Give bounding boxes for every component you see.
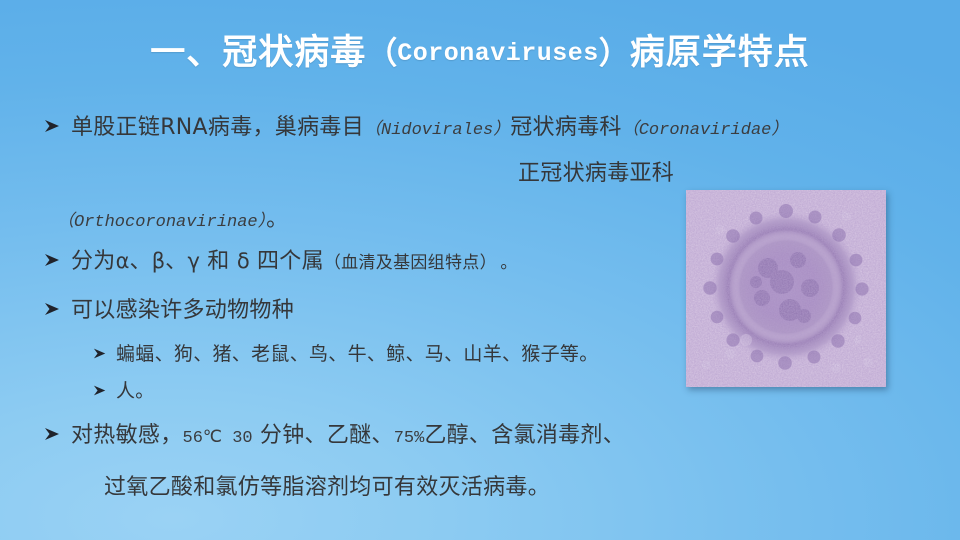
arrow-bullet-icon xyxy=(93,347,107,360)
bullet-1-line-1: 单股正链RNA病毒，巢病毒目（Nidovirales）冠状病毒科（Coronav… xyxy=(44,117,788,139)
bullet-4-text-b: 分钟、乙醚、 xyxy=(253,423,394,448)
bullet-2-text-b: 和 xyxy=(200,249,237,274)
bullet-2-line: 分为α、β、γ 和 δ 四个属（血清及基因组特点）。 xyxy=(44,251,518,273)
slide-canvas: 一、冠状病毒（Coronaviruses）病原学特点 单股正链RNA病毒，巢病毒… xyxy=(0,0,960,540)
bullet-4-gap xyxy=(222,429,232,448)
bullet-3-sub-2: 人。 xyxy=(93,382,155,401)
bullet-2-note: （血清及基因组特点） xyxy=(324,253,489,273)
bullet-3-line: 可以感染许多动物物种 xyxy=(44,300,294,322)
bullet-2-sep-1: 、 xyxy=(129,249,151,274)
bullet-2-greek-beta: β xyxy=(152,249,165,273)
bullet-1-text-b: 冠状病毒科 xyxy=(510,115,622,140)
bullet-3-text: 可以感染许多动物物种 xyxy=(71,298,294,323)
title-paren-open: （ xyxy=(366,36,397,71)
bullet-2-period: 。 xyxy=(488,253,517,273)
arrow-bullet-icon xyxy=(44,118,61,134)
arrow-bullet-icon xyxy=(93,384,107,397)
arrow-bullet-icon xyxy=(44,426,61,442)
bullet-2-greek-delta: δ xyxy=(237,249,250,273)
bullet-4-text-c: 乙醇、含氯消毒剂、 xyxy=(424,423,625,448)
bullet-4-minutes-number: 30 xyxy=(232,429,252,448)
slide-title: 一、冠状病毒（Coronaviruses）病原学特点 xyxy=(0,36,960,71)
bullet-4-temperature: 56℃ xyxy=(183,429,223,448)
bullet-2-sep-2: 、 xyxy=(165,249,187,274)
bullet-3-sub-1: 蝙蝠、狗、猪、老鼠、鸟、牛、鲸、马、山羊、猴子等。 xyxy=(93,345,599,364)
bullet-1-latin-2: （Coronaviridae） xyxy=(622,121,789,140)
bullet-4-line-2: 过氧乙酸和氯仿等脂溶剂均可有效灭活病毒。 xyxy=(104,477,550,499)
bullet-3-sub-2-text: 人。 xyxy=(116,380,155,402)
bullet-2-text-c: 四个属 xyxy=(250,249,324,274)
bullet-1-latin-1: （Nidovirales） xyxy=(364,121,510,140)
arrow-bullet-icon xyxy=(44,301,61,317)
bullet-4-text-a: 对热敏感， xyxy=(71,423,183,448)
bullet-4-line-1: 对热敏感，56℃ 30 分钟、乙醚、75%乙醇、含氯消毒剂、 xyxy=(44,425,625,447)
title-part-2: 病原学特点 xyxy=(630,33,810,73)
bullet-1-period: 。 xyxy=(266,207,288,232)
title-latin-name: Coronaviruses xyxy=(397,39,599,68)
bullet-2-text-a: 分为 xyxy=(71,249,116,274)
title-paren-close: ） xyxy=(599,36,630,71)
bullet-4-text-d: 过氧乙酸和氯仿等脂溶剂均可有效灭活病毒。 xyxy=(104,475,550,500)
bullet-1-line-2: 正冠状病毒亚科 xyxy=(518,163,674,185)
bullet-2-greek-alpha: α xyxy=(116,249,130,273)
bullet-4-percent: 75% xyxy=(394,429,425,448)
bullet-3-sub-1-text: 蝙蝠、狗、猪、老鼠、鸟、牛、鲸、马、山羊、猴子等。 xyxy=(116,343,599,365)
bullet-1-text-a: 单股正链RNA病毒，巢病毒目 xyxy=(71,115,364,140)
bullet-1-line-3: （Orthocoronavirinae）。 xyxy=(57,209,288,231)
arrow-bullet-icon xyxy=(44,252,61,268)
bullet-1-subfamily-cn: 正冠状病毒亚科 xyxy=(518,161,674,186)
coronavirus-electron-micrograph xyxy=(686,190,886,387)
title-part-1: 一、冠状病毒 xyxy=(150,33,366,73)
bullet-2-greek-gamma: γ xyxy=(187,249,199,273)
bullet-1-subfamily-latin: （Orthocoronavirinae） xyxy=(57,213,266,232)
